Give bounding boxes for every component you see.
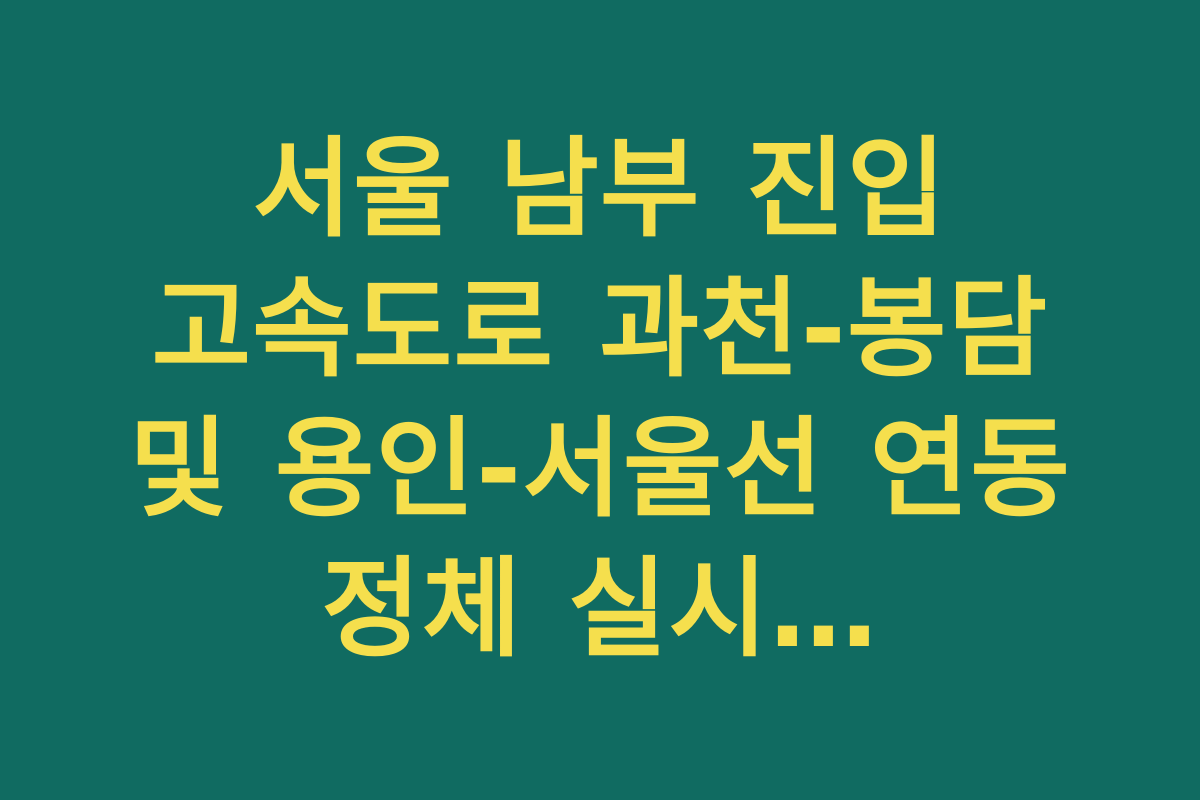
headline-text: 서울 남부 진입 고속도로 과천-봉담 및 용인-서울선 연동 정체 실시…	[95, 120, 1105, 680]
headline-block: 서울 남부 진입 고속도로 과천-봉담 및 용인-서울선 연동 정체 실시…	[95, 120, 1105, 680]
title-card: 서울 남부 진입 고속도로 과천-봉담 및 용인-서울선 연동 정체 실시…	[0, 0, 1200, 800]
